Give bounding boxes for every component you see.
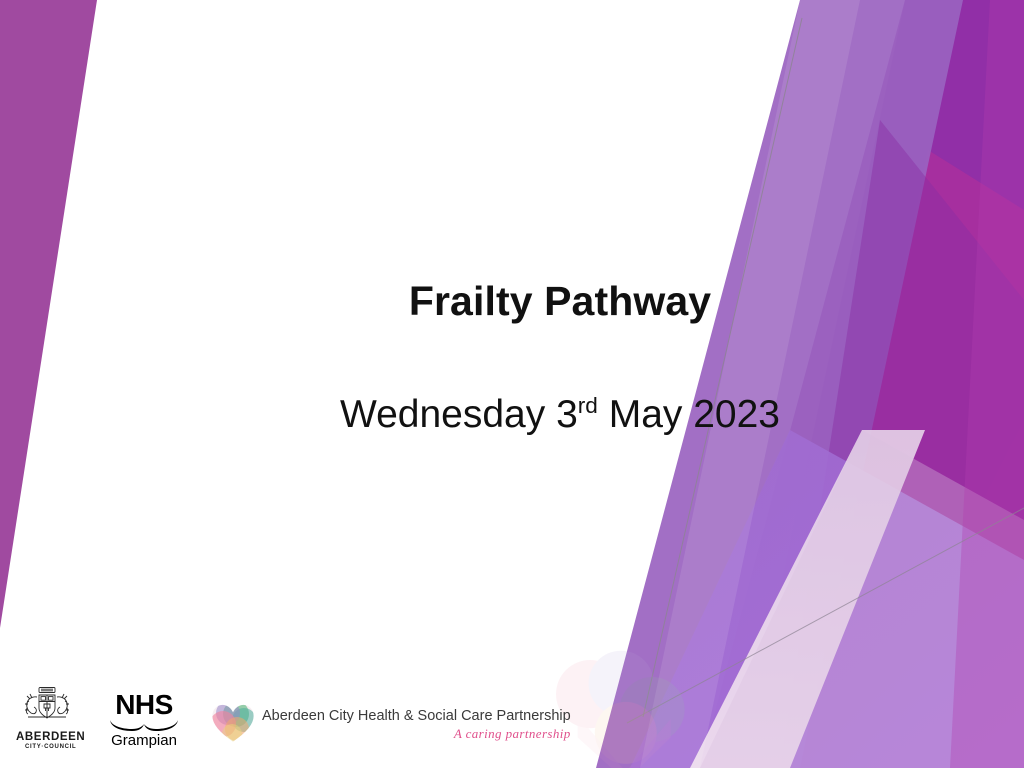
- nhs-swoosh-right: [144, 720, 178, 731]
- watermark-heart-tip: [578, 716, 671, 768]
- crest-banner-detail: [41, 689, 53, 691]
- crest-quarter-1: [41, 697, 46, 701]
- subtitle-ordinal-suffix: rd: [578, 393, 598, 418]
- subtitle-container: Wednesday 3rd May 2023: [300, 393, 820, 438]
- nhs-swoosh-icon: [108, 719, 180, 732]
- nhs-grampian-sub: Grampian: [108, 733, 180, 748]
- aberdeen-logo-name: ABERDEEN: [16, 731, 85, 743]
- aberdeen-city-council-logo: ABERDEEN CITY·COUNCIL: [16, 686, 85, 750]
- nhs-wordmark: NHS: [108, 691, 180, 719]
- crest-quarter-2: [49, 697, 54, 701]
- hscp-name: Aberdeen City Health & Social Care Partn…: [262, 709, 571, 724]
- hscp-heart-icon: [210, 702, 256, 744]
- nhs-swoosh-left: [110, 720, 144, 731]
- subtitle-date-prefix: Wednesday 3: [340, 393, 578, 436]
- right-violet-overlay: [780, 120, 1024, 768]
- slide-subtitle-line: Wednesday 3rd May 2023: [300, 393, 820, 438]
- hscp-tagline: A caring partnership: [262, 727, 571, 740]
- watermark-circle-green: [620, 677, 685, 742]
- heart-watermark: [0, 0, 1024, 768]
- crest-supporter-right-detail: [62, 694, 69, 710]
- left-purple-wedge: [0, 0, 97, 628]
- right-violet-column: [700, 0, 1024, 768]
- nhs-grampian-logo: NHS Grampian: [108, 691, 180, 748]
- aberdeen-crest-icon: [16, 686, 78, 726]
- crest-supporter-left: [26, 697, 37, 714]
- hscp-logo: Aberdeen City Health & Social Care Partn…: [210, 702, 571, 744]
- pale-lavender-facet: [690, 430, 925, 768]
- pale-wide-facet: [700, 430, 1024, 768]
- crest-supporter-right: [57, 697, 68, 714]
- watermark-circle-peach: [595, 702, 657, 764]
- hairline-steep: [643, 18, 802, 717]
- logo-strip: ABERDEEN CITY·COUNCIL NHS Grampian: [0, 686, 540, 760]
- slide-title: Frailty Pathway: [300, 278, 820, 325]
- lower-violet-facet: [630, 430, 1024, 768]
- title-container: Frailty Pathway: [300, 278, 820, 325]
- right-magenta-base: [742, 0, 1024, 768]
- watermark-circle-lilac: [589, 651, 654, 716]
- aberdeen-logo-sub: CITY·COUNCIL: [16, 744, 85, 750]
- right-purple-band: [596, 0, 963, 768]
- hairline-shallow: [627, 508, 1024, 723]
- crest-banner: [39, 688, 55, 693]
- top-light-streak: [640, 0, 860, 768]
- crest-supporter-left-detail: [25, 694, 32, 710]
- right-magenta-slab: [800, 150, 1024, 768]
- facet-background-decoration: [0, 0, 1024, 768]
- subtitle-date-suffix: May 2023: [598, 393, 780, 436]
- presentation-slide: Frailty Pathway Wednesday 3rd May 2023: [0, 0, 1024, 768]
- right-bright-edge: [950, 0, 1024, 768]
